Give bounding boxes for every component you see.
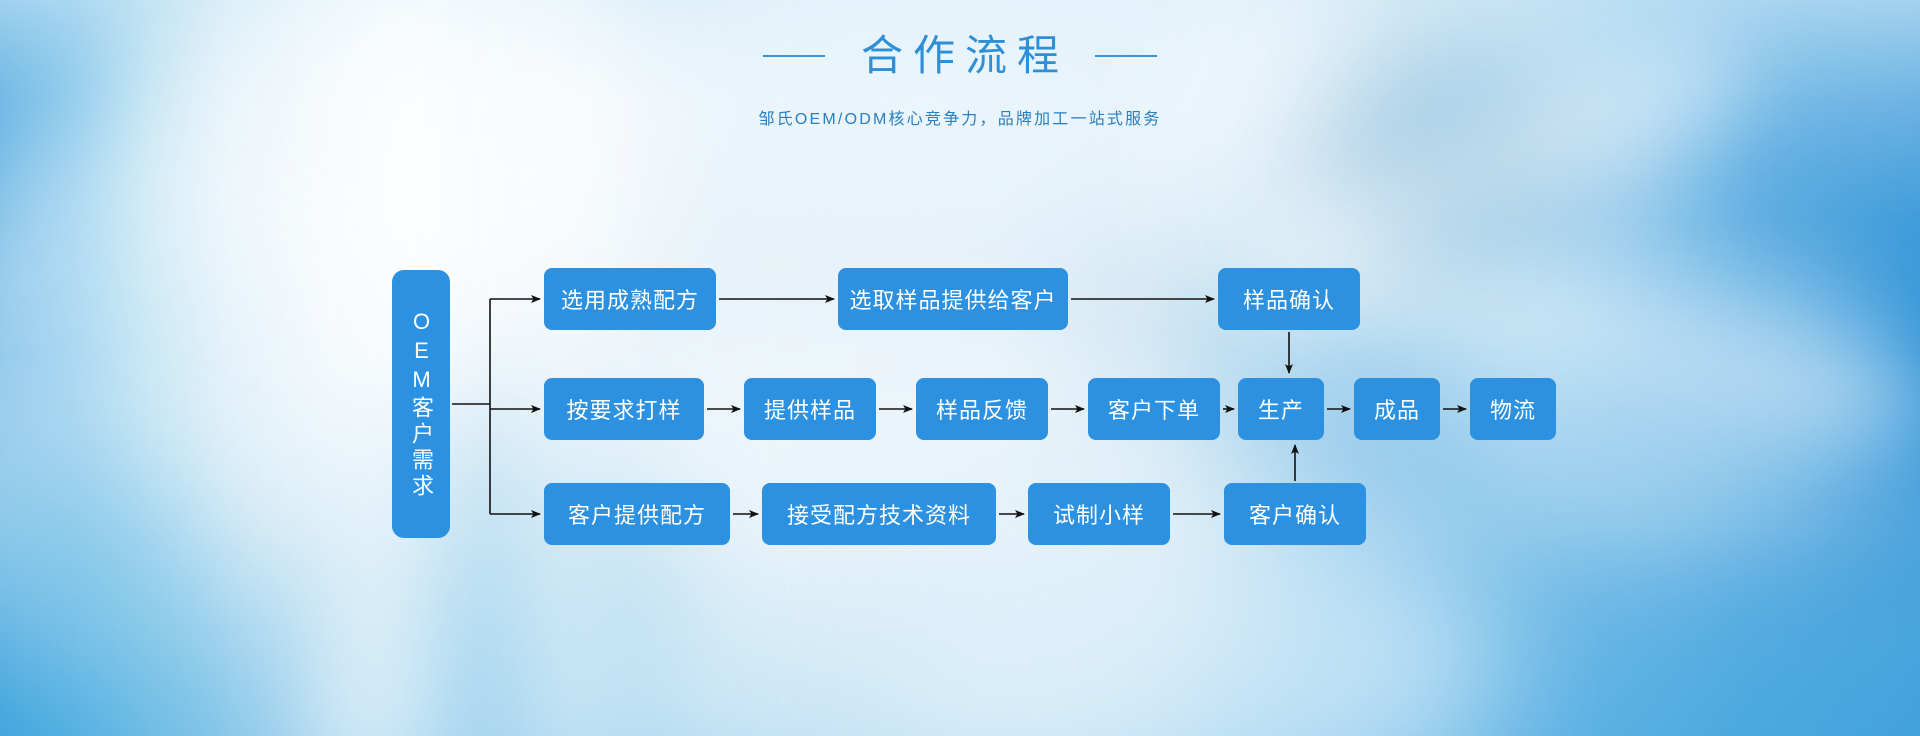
flow-node-2-4[interactable]: 客户下单 bbox=[1088, 378, 1220, 440]
flow-node-3-1[interactable]: 客户提供配方 bbox=[544, 483, 730, 545]
flow-connectors bbox=[0, 0, 1920, 736]
flow-node-3-4[interactable]: 客户确认 bbox=[1224, 483, 1366, 545]
flow-node-1-2[interactable]: 选取样品提供给客户 bbox=[838, 268, 1068, 330]
flow-node-2-7[interactable]: 物流 bbox=[1470, 378, 1556, 440]
flow-node-1-3[interactable]: 样品确认 bbox=[1218, 268, 1360, 330]
flow-node-2-5[interactable]: 生产 bbox=[1238, 378, 1324, 440]
flow-node-entry[interactable]: OEM客户需求 bbox=[392, 270, 450, 538]
poster-canvas: 合作流程 邹氏OEM/ODM核心竞争力，品牌加工一站式服务 OEM客户需求选用成… bbox=[0, 0, 1920, 736]
flow-node-2-3[interactable]: 样品反馈 bbox=[916, 378, 1048, 440]
flow-node-2-6[interactable]: 成品 bbox=[1354, 378, 1440, 440]
flow-node-2-1[interactable]: 按要求打样 bbox=[544, 378, 704, 440]
flow-node-2-2[interactable]: 提供样品 bbox=[744, 378, 876, 440]
flow-node-3-2[interactable]: 接受配方技术资料 bbox=[762, 483, 996, 545]
flow-node-1-1[interactable]: 选用成熟配方 bbox=[544, 268, 716, 330]
process-flow-diagram: OEM客户需求选用成熟配方选取样品提供给客户样品确认按要求打样提供样品样品反馈客… bbox=[0, 0, 1920, 736]
flow-node-3-3[interactable]: 试制小样 bbox=[1028, 483, 1170, 545]
